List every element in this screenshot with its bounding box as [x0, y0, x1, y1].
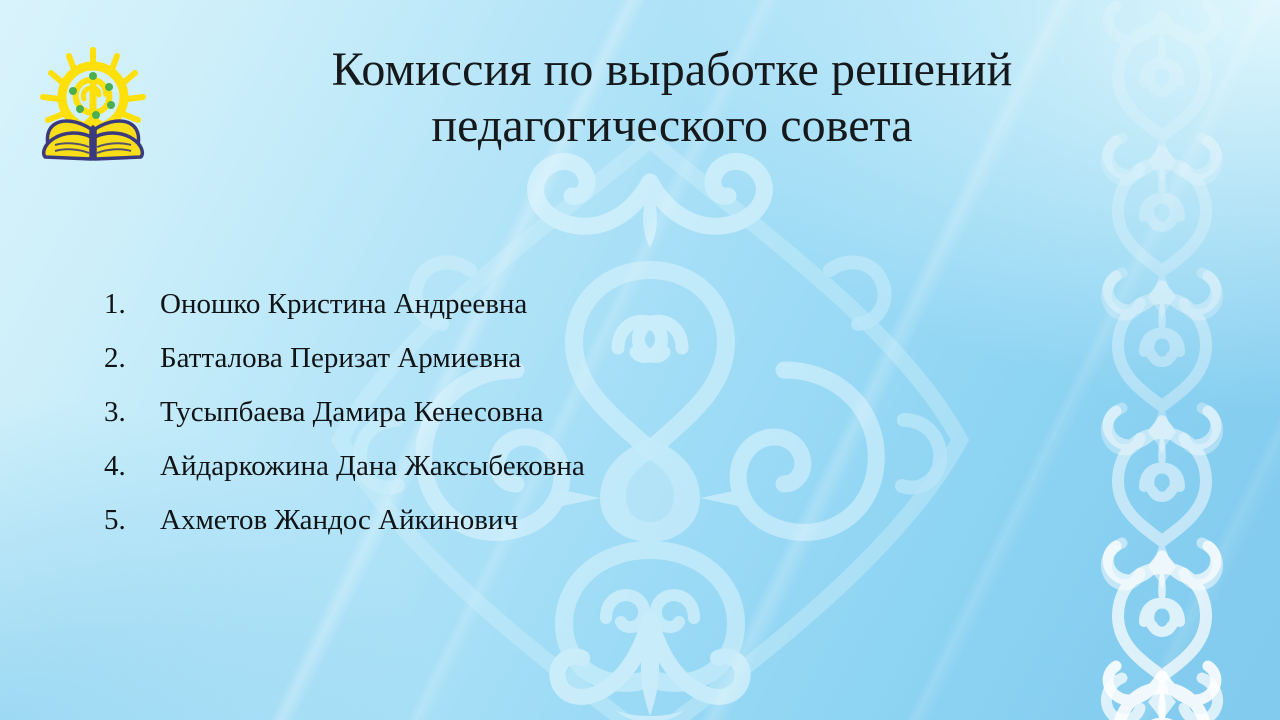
list-item-label: Оношко Кристина Андреевна [160, 288, 527, 321]
list-item: 2. Батталова Перизат Армиевна [104, 342, 864, 396]
list-item-number: 2. [104, 342, 160, 375]
slide-title: Комиссия по выработке решений педагогиче… [176, 42, 1168, 154]
list-item-number: 3. [104, 396, 160, 429]
list-item-label: Айдаркожина Дана Жаксыбековна [160, 450, 585, 483]
list-item: 5. Ахметов Жандос Айкинович [104, 504, 864, 558]
open-book-icon [44, 121, 143, 159]
list-item-label: Тусыпбаева Дамира Кенесовна [160, 396, 543, 429]
list-item-number: 4. [104, 450, 160, 483]
list-item-label: Батталова Перизат Армиевна [160, 342, 521, 375]
list-item: 1. Оношко Кристина Андреевна [104, 288, 864, 342]
slide-title-line-1: Комиссия по выработке решений [176, 42, 1168, 98]
list-item: 4. Айдаркожина Дана Жаксыбековна [104, 450, 864, 504]
commission-member-list: 1. Оношко Кристина Андреевна 2. Батталов… [104, 288, 864, 558]
list-item-number: 5. [104, 504, 160, 537]
list-item-label: Ахметов Жандос Айкинович [160, 504, 518, 537]
slide-title-line-2: педагогического совета [176, 98, 1168, 154]
school-emblem-logo [33, 47, 153, 162]
list-item: 3. Тусыпбаева Дамира Кенесовна [104, 396, 864, 450]
presentation-slide: Комиссия по выработке решений педагогиче… [0, 0, 1280, 720]
list-item-number: 1. [104, 288, 160, 321]
